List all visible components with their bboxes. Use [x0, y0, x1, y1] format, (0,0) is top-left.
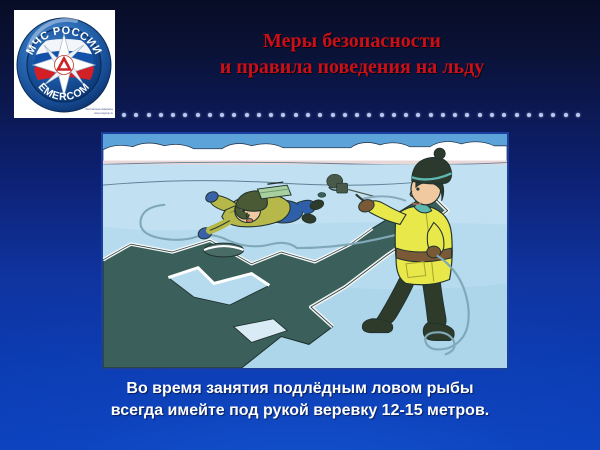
divider-dot [331, 113, 335, 117]
divider-dot [220, 113, 224, 117]
divider-dot [269, 113, 273, 117]
divider-dot [281, 113, 285, 117]
ice-rescue-illustration [101, 132, 509, 370]
divider-dot [564, 113, 568, 117]
divider-dot [171, 113, 175, 117]
divider-dot [343, 113, 347, 117]
divider-dot [183, 113, 187, 117]
divider-dot [429, 113, 433, 117]
divider-dot [515, 113, 519, 117]
divider-dot [147, 113, 151, 117]
pompom [434, 148, 445, 159]
divider-dot [453, 113, 457, 117]
emercom-emblem-graphic: МЧС РОССИИ EMERCOM [14, 10, 115, 118]
caption-line-1: Во время занятия подлёдным ловом рыбы [30, 378, 570, 400]
divider-dot [196, 113, 200, 117]
divider-dot [465, 113, 469, 117]
divider-dot [159, 113, 163, 117]
divider-dot [392, 113, 396, 117]
divider-dot [257, 113, 261, 117]
divider-dot [232, 113, 236, 117]
dotted-divider [122, 110, 580, 120]
divider-dot [306, 113, 310, 117]
title-line-2: и правила поведения на льду [132, 54, 572, 80]
emercom-logo: МЧС РОССИИ EMERCOM бесплатные рефераты w… [14, 10, 115, 118]
divider-dot [134, 113, 138, 117]
divider-dot [441, 113, 445, 117]
ice-hole [204, 243, 244, 257]
divider-dot [551, 113, 555, 117]
ice-rescue-scene [103, 134, 507, 368]
divider-dot [478, 113, 482, 117]
divider-dot [576, 113, 580, 117]
divider-dot [502, 113, 506, 117]
divider-dot [380, 113, 384, 117]
divider-dot [416, 113, 420, 117]
slide-title: Меры безопасности и правила поведения на… [132, 28, 572, 80]
caption-line-2: всегда имейте под рукой веревку 12-15 ме… [30, 400, 570, 422]
title-line-1: Меры безопасности [132, 28, 572, 54]
divider-dot [355, 113, 359, 117]
divider-dot [527, 113, 531, 117]
prone-mouth [246, 219, 252, 223]
presentation-slide: МЧС РОССИИ EMERCOM бесплатные рефераты w… [0, 0, 600, 450]
divider-dot [294, 113, 298, 117]
divider-dot [318, 113, 322, 117]
divider-dot [539, 113, 543, 117]
divider-dot [490, 113, 494, 117]
slide-caption: Во время занятия подлёдным ловом рыбы вс… [30, 378, 570, 422]
divider-dot [367, 113, 371, 117]
divider-dot [122, 113, 126, 117]
divider-dot [208, 113, 212, 117]
prone-eye [242, 209, 245, 212]
divider-dot [404, 113, 408, 117]
eye [416, 187, 419, 190]
divider-dot [245, 113, 249, 117]
logo-fine-print: бесплатные рефераты www.xxigroup.ru [86, 108, 114, 115]
